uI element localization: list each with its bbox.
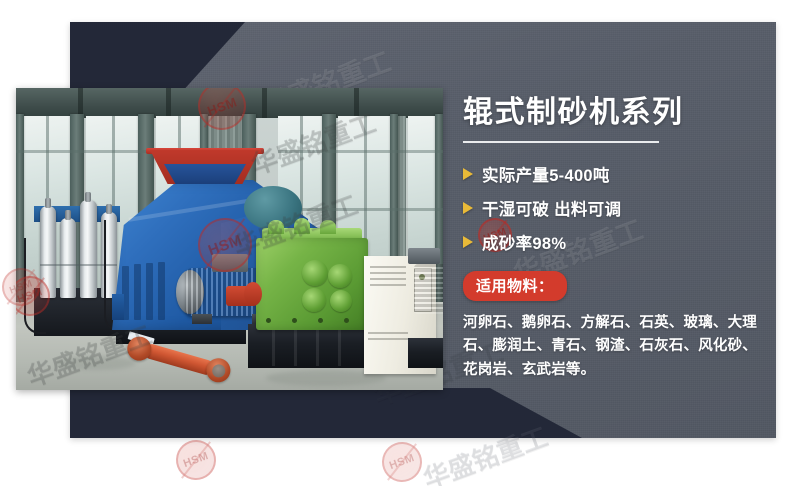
status-badge: 适用物料： (463, 271, 567, 301)
cylinder-valve (106, 204, 112, 214)
window-divider (278, 208, 443, 211)
watermark-hsm-badge-footer: HSM (376, 436, 427, 486)
blower-motor (414, 264, 443, 314)
base-frame-rib (294, 328, 297, 366)
window-mullion (16, 114, 24, 309)
arrow-right-icon (463, 236, 473, 248)
cabinet-vent (368, 332, 408, 334)
feature-list: 实际产量5-400吨 干湿可破 出料可调 成砂率98% (463, 157, 775, 259)
crusher-rib (158, 262, 165, 320)
arrow-right-icon (463, 202, 473, 214)
feature-label: 干湿可破 出料可调 (482, 196, 621, 220)
roof-beam (354, 88, 359, 118)
cabinet-vent (368, 338, 408, 340)
gearbox-hump (294, 218, 310, 234)
machine-base-frame-center (248, 324, 368, 368)
gas-cylinder (80, 200, 97, 298)
base-frame-rib (338, 328, 341, 366)
crusher-support-leg (112, 294, 124, 320)
cabinet-vent (370, 272, 406, 274)
gearbox-shaft-flange (330, 290, 352, 312)
base-frame-rib (272, 328, 275, 366)
product-photo: HSM HSM HSM 华盛铭重工 华盛铭重工 华盛铭重工 (16, 88, 443, 390)
crusher-rib (146, 263, 153, 320)
feature-label: 成砂率98% (482, 230, 566, 254)
gearbox-bolt (266, 318, 271, 323)
motor-mount-foot (192, 314, 212, 324)
floor-stain (56, 356, 136, 370)
motor-terminal-box (212, 254, 248, 272)
materials-text: 河卵石、鹅卵石、方解石、石英、玻璃、大理石、膨润土、青石、钢渣、石灰石、风化砂、… (463, 312, 763, 382)
feed-hopper-opening (164, 164, 246, 184)
gearbox-bolt (318, 318, 323, 323)
watermark-hsm-badge-bottom-left: HSM (170, 434, 221, 485)
list-item: 成砂率98% (463, 225, 775, 259)
gearbox-bolt (292, 318, 297, 323)
gas-cylinder (60, 218, 76, 298)
product-banner: 华盛铭重工 华盛铭重工 华盛铭重工 HSM (0, 0, 800, 486)
hydraulic-hose (24, 238, 46, 334)
title-divider (463, 141, 659, 143)
machine-base-frame-right (408, 338, 443, 368)
crusher-rib (134, 264, 141, 320)
gearbox-input-coupling (244, 282, 262, 306)
gearbox-hump (268, 220, 284, 234)
gearbox-shaft-flange (328, 264, 352, 288)
blower-junction-box (408, 248, 440, 264)
roof-beam (166, 88, 171, 118)
cabinet-vent (370, 284, 406, 286)
page-title: 辊式制砂机系列 (463, 96, 775, 129)
list-item: 实际产量5-400吨 (463, 157, 775, 191)
cylinder-valve (45, 198, 51, 208)
gearbox-shaft-flange (302, 288, 326, 312)
text-column: 辊式制砂机系列 实际产量5-400吨 干湿可破 出料可调 成砂率98% 适用物料… (463, 96, 775, 382)
arrow-right-icon (463, 168, 473, 180)
cabinet-vent (370, 278, 406, 280)
window-divider (278, 150, 443, 153)
roof-beam (262, 88, 267, 118)
decorative-band-bottom (70, 388, 490, 438)
cabinet-vent (370, 266, 406, 268)
cylinder-valve (65, 210, 71, 220)
cylinder-valve (85, 192, 91, 202)
base-frame-rib (316, 328, 319, 366)
gearbox-bolt (344, 318, 349, 323)
list-item: 干湿可破 出料可调 (463, 191, 775, 225)
gearbox-shaft-flange (302, 260, 328, 286)
feature-label: 实际产量5-400吨 (482, 162, 610, 186)
gearbox-hump (320, 220, 336, 234)
